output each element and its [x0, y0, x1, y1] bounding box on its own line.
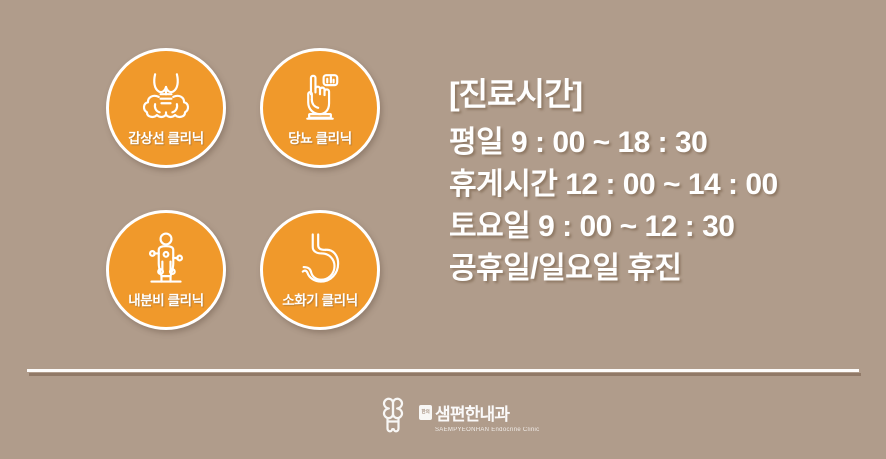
logo-text-block: 한의 샘편한내과 SAEMPYEONHAN Endocrine Clinic [419, 400, 539, 433]
opening-hours-panel: [진료시간] 평일 9 : 00 ~ 18 : 30 휴게시간 12 : 00 … [449, 76, 849, 290]
clinic-label: 소화기 클리닉 [282, 289, 357, 309]
clinic-circle-endocrine[interactable]: 내분비 클리닉 [106, 210, 226, 330]
clinic-circle-thyroid[interactable]: 갑상선 클리닉 [106, 48, 226, 168]
logo-badge-text: 한의 [421, 410, 429, 415]
hours-line-holiday: 공휴일/일요일 휴진 [449, 248, 849, 290]
logo-name: 샘편한내과 [435, 400, 509, 425]
clinic-label: 갑상선 클리닉 [128, 127, 203, 147]
hours-line-lunchbreak: 휴게시간 12 : 00 ~ 14 : 00 [449, 164, 849, 206]
opening-hours-title: [진료시간] [449, 76, 849, 113]
clinic-circle-grid: 갑상선 클리닉 당뇨 클리닉 [106, 48, 380, 330]
thyroid-gland-icon [137, 67, 195, 125]
hours-line-saturday: 토요일 9 : 00 ~ 12 : 30 [449, 206, 849, 248]
clinic-info-banner: 갑상선 클리닉 당뇨 클리닉 [0, 0, 886, 459]
clinic-logo[interactable]: 한의 샘편한내과 SAEMPYEONHAN Endocrine Clinic [371, 392, 515, 440]
clinic-circle-digestive[interactable]: 소화기 클리닉 [260, 210, 380, 330]
logo-subtitle: SAEMPYEONHAN Endocrine Clinic [435, 427, 539, 433]
clinic-circle-diabetes[interactable]: 당뇨 클리닉 [260, 48, 380, 168]
clinic-label: 내분비 클리닉 [128, 289, 203, 309]
clinic-label: 당뇨 클리닉 [288, 127, 351, 147]
clover-knot-logo-icon [371, 394, 415, 438]
endocrine-body-icon [137, 229, 195, 287]
hours-line-weekday: 평일 9 : 00 ~ 18 : 30 [449, 122, 849, 164]
logo-name-row: 한의 샘편한내과 [419, 400, 539, 425]
horizontal-divider [27, 369, 859, 372]
hand-glucose-meter-icon [291, 67, 349, 125]
logo-badge-icon: 한의 [419, 405, 432, 420]
stomach-icon [291, 229, 349, 287]
